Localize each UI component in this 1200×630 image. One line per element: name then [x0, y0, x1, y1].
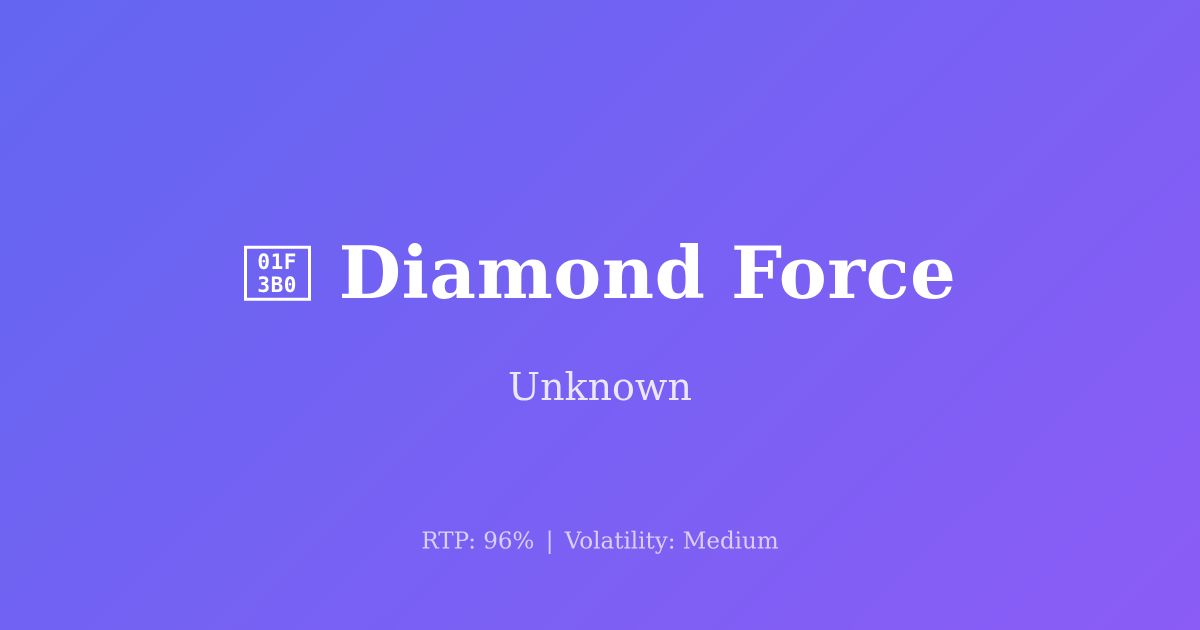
- volatility-label: Volatility: Medium: [565, 529, 779, 555]
- game-info-card: 01F 3B0 Diamond Force Unknown RTP: 96% |…: [0, 0, 1200, 630]
- subtitle: Unknown: [0, 368, 1200, 406]
- rtp-label: RTP: 96%: [421, 529, 534, 555]
- title-row: 01F 3B0 Diamond Force: [0, 189, 1200, 357]
- page-title: Diamond Force: [339, 237, 957, 309]
- meta-separator: |: [542, 529, 558, 555]
- tofu-codepoint-bottom: 3B0: [257, 274, 296, 297]
- slot-machine-icon: 01F 3B0: [244, 246, 311, 301]
- meta-line: RTP: 96% | Volatility: Medium: [0, 531, 1200, 554]
- tofu-codepoint-top: 01F: [257, 251, 296, 274]
